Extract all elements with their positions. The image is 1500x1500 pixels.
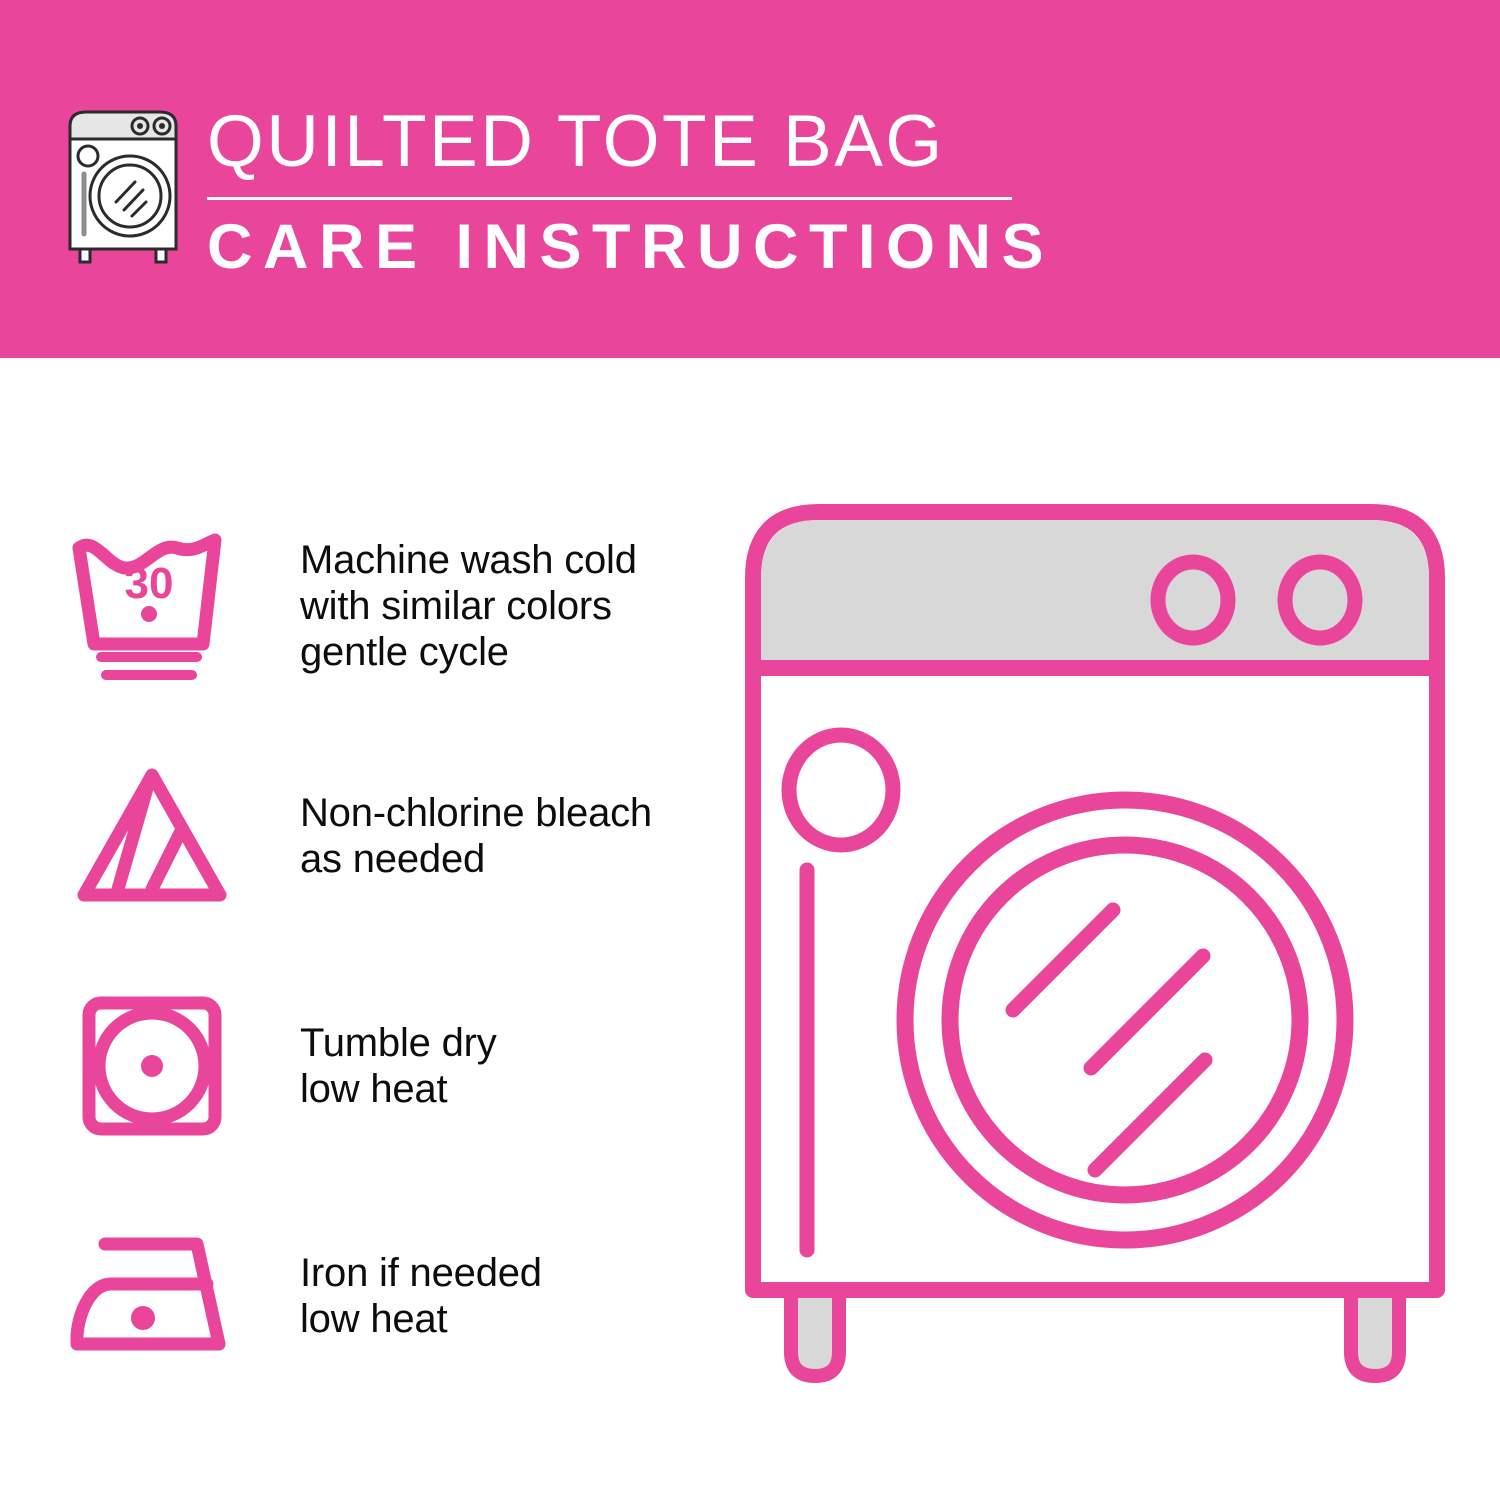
care-instructions-page: QUILTED TOTE BAG CARE INSTRUCTIONS 30	[0, 0, 1500, 1500]
care-text-iron: Iron if needed low heat	[300, 1250, 542, 1342]
care-line: low heat	[300, 1296, 542, 1342]
care-line: Iron if needed	[300, 1250, 542, 1296]
care-line: Non-chlorine bleach	[300, 790, 652, 836]
header-text-block: QUILTED TOTE BAG CARE INSTRUCTIONS	[207, 100, 1207, 283]
title-divider	[207, 197, 1012, 200]
care-row-machine-wash: 30 Machine wash cold with similar colors…	[0, 506, 720, 706]
care-row-iron: Iron if needed low heat	[0, 1196, 720, 1396]
care-text-tumble-dry: Tumble dry low heat	[300, 1020, 497, 1112]
wash-tub-30-gentle-icon: 30	[62, 516, 242, 696]
care-instruction-list: 30 Machine wash cold with similar colors…	[0, 358, 720, 1500]
iron-low-heat-icon	[62, 1206, 242, 1386]
washer-knob-right	[1285, 562, 1355, 638]
care-line: low heat	[300, 1066, 497, 1112]
page-subtitle: CARE INSTRUCTIONS	[207, 211, 1207, 283]
care-row-bleach: Non-chlorine bleach as needed	[0, 736, 720, 936]
header-banner: QUILTED TOTE BAG CARE INSTRUCTIONS	[0, 0, 1500, 358]
care-line: with similar colors	[300, 583, 637, 629]
front-load-washing-machine-illustration	[735, 490, 1455, 1420]
non-chlorine-bleach-triangle-icon	[62, 746, 242, 926]
care-line: Tumble dry	[300, 1020, 497, 1066]
care-text-bleach: Non-chlorine bleach as needed	[300, 790, 652, 882]
wash-temperature-label: 30	[124, 559, 173, 608]
washer-legs	[791, 1290, 1399, 1376]
washer-knob-left	[1158, 562, 1228, 638]
care-line: as needed	[300, 836, 652, 882]
care-text-machine-wash: Machine wash cold with similar colors ge…	[300, 537, 637, 675]
care-row-tumble-dry: Tumble dry low heat	[0, 966, 720, 1166]
washer-latch-circle	[789, 735, 893, 845]
care-line: gentle cycle	[300, 629, 637, 675]
page-title: QUILTED TOTE BAG	[207, 100, 1207, 184]
tumble-dry-low-icon	[62, 976, 242, 1156]
care-line: Machine wash cold	[300, 537, 637, 583]
washing-machine-icon	[62, 104, 192, 264]
